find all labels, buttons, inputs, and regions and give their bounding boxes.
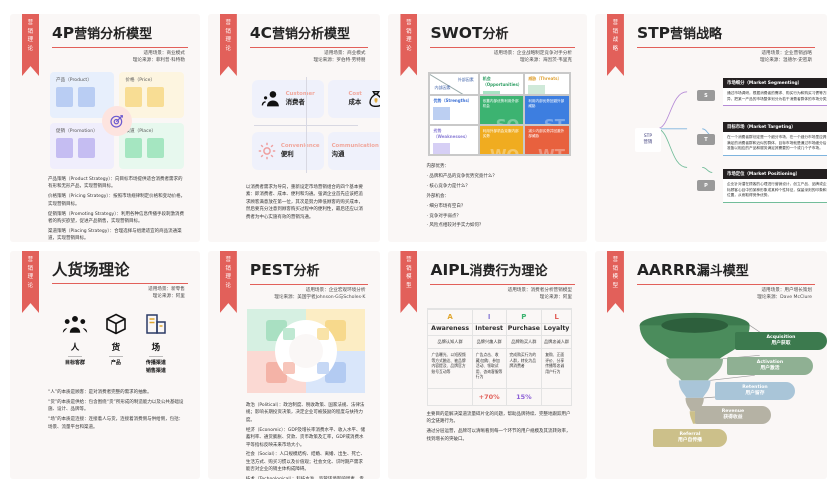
- body-line: 经济（Economic）：GDP及增长率消费水平、收入水平、储蓄利率、通货膨胀、…: [246, 427, 367, 449]
- mindmap-stp: STP 营销 S T P 市场细分（Market Segmenting） 通过市…: [635, 70, 813, 212]
- title-en: STP: [637, 24, 670, 42]
- matrix-cell-wo[interactable]: 利用外部机会克服内部劣势 WO: [479, 125, 525, 155]
- column-detail: 复购、正面评价、分享传播等忠诚用户行为: [542, 349, 572, 389]
- ribbon-char: 销: [28, 266, 34, 273]
- funnel-label-activation[interactable]: Activation 用户激活: [727, 357, 813, 375]
- ribbon-char: 略: [613, 46, 619, 53]
- meta-scene: 适用场景：商业模式: [242, 50, 369, 57]
- stage-cn: 用户激活: [760, 366, 779, 373]
- ribbon-4p: 营 销 理 论: [22, 14, 39, 76]
- cell-text: 利用内部优势回避外部威胁: [528, 99, 564, 108]
- meta-source: 理论来源：菲利普·科特勒: [44, 57, 188, 64]
- page-title: 人货场理论: [52, 261, 188, 280]
- column-name: Purchase: [506, 324, 542, 336]
- title-en: 4C: [250, 24, 272, 42]
- meta-source: 理论来源：阿里: [44, 293, 188, 300]
- column-name: Awareness: [428, 324, 472, 336]
- column-crowd: 品牌认知人群: [428, 336, 472, 349]
- detail-card-positioning[interactable]: 市场定位（Market Positioning） 企业针对潜在顾客的心理进行营销…: [723, 169, 827, 203]
- column-letter: L: [542, 310, 572, 324]
- item-title: 货: [104, 341, 128, 353]
- ribbon-char: 模: [613, 274, 619, 281]
- meta-scene: 适用场景：新零售: [44, 286, 188, 293]
- body-line: “场”的本质是连接：连接着人与货，连接着消费侧与供给侧，包括：场景、流量平台和渠…: [48, 416, 186, 431]
- table-row-detail: 广告曝光、以短视频等方式触达、被品牌内容提及、品牌官方账号互动等 广告点击、收藏…: [428, 349, 571, 389]
- card-4p[interactable]: 营 销 理 论 4P营销分析模型 适用场景：商业模式 理论来源：菲利普·科特勒 …: [10, 14, 200, 242]
- body-line: 内部优势：: [426, 163, 572, 170]
- title-cn: 营销分析模型: [272, 27, 350, 42]
- divider-horizontal: [254, 125, 359, 126]
- ribbon-pest: 营 销 理 论: [220, 251, 237, 313]
- col-header-threats: 威胁（Threats）: [524, 73, 570, 95]
- item-title: 场: [144, 341, 168, 353]
- meta-source: 理论来源：罗伯特·劳特朋: [242, 57, 369, 64]
- bar: [56, 87, 73, 107]
- divider: [149, 356, 163, 357]
- ribbon-renhuochang: 营 销 理 论: [22, 251, 39, 313]
- stage-cn: 用户获取: [771, 341, 790, 348]
- item-sub: 目标客群: [62, 360, 88, 368]
- title-rule: [52, 283, 188, 284]
- card-stp[interactable]: 营 销 战 略 STP营销战略 适用场景：企业营销战略 理论来源：温德尔·史密斯: [595, 14, 827, 242]
- body-text-aipl: 主要目的是解决渠道流量碎片化的问题，帮助品牌持续、完整地跟踪用户的全链路行为。 …: [426, 411, 572, 443]
- title-cn: 漏斗模型: [697, 264, 749, 279]
- ribbon-aarrr: 营 销 模 型: [607, 251, 624, 313]
- quadrant-en: Cost: [348, 91, 361, 98]
- title-rule: [637, 284, 815, 285]
- meta-scene: 适用场景：企业战略制定竞争对手分析: [422, 50, 574, 57]
- title-cn: 营销战略: [670, 27, 722, 42]
- detail-caption: 市场定位（Market Positioning）: [723, 169, 827, 179]
- bar: [147, 87, 164, 107]
- row-label: 劣势（Weaknesses）: [433, 128, 469, 139]
- card-row-1: 营 销 理 论 4P营销分析模型 适用场景：商业模式 理论来源：菲利普·科特勒 …: [10, 14, 827, 242]
- stage-cn: 获得收益: [723, 415, 742, 422]
- corner-outer-label: 外部因素: [458, 77, 474, 83]
- ribbon-char: 销: [613, 29, 619, 36]
- cell-text: 依靠内部优势利用外部机会: [483, 99, 519, 108]
- bar: [147, 138, 164, 158]
- body-line: 渠道策略（Placing Strategy）：合理选择与组建适宜的商品流通渠道，…: [48, 228, 186, 242]
- matrix-swot: 外部因素 内部因素 机会（Opportunities） 威胁（Threats） …: [428, 72, 570, 156]
- stage-cn: 用户自传播: [678, 438, 702, 445]
- body-text-swot: 内部优势： · 品牌和产品的竞争优势究竟什么？ · 核心竞争力是什么？ 外部机会…: [426, 163, 572, 230]
- infographic-board: 营 销 理 论 4P营销分析模型 适用场景：商业模式 理论来源：菲利普·科特勒 …: [0, 0, 837, 500]
- ribbon-char: 营: [613, 257, 619, 264]
- detail-body: 在一个消费者群划定是一个细分市场，在一个细分市场里应具备的是满足的消费者群和近似…: [723, 132, 827, 155]
- body-line: 社会（Social）：人口规模结构、结婚、离婚、出生、死亡、生活方式、购买习惯以…: [246, 451, 367, 473]
- diagram-4c: Customer 消费者 Cost 成本: [250, 73, 363, 177]
- title-rule: [430, 47, 574, 48]
- meta-scene: 适用场景：用户增长策划: [629, 287, 815, 294]
- quadrant-en: Convenience: [281, 143, 320, 150]
- card-renhuochang[interactable]: 营 销 理 论 人货场理论 适用场景：新零售 理论来源：阿里: [10, 251, 200, 479]
- body-line: “货”的本质是供给：包含围绕“货”所形成的制造能力以及公共基础设施、设计、品牌等…: [48, 399, 186, 414]
- body-line: 价格策略（Pricing Strategy）：按照市场规律制定价格和变动价格，实…: [48, 193, 186, 208]
- ribbon-char: 营: [28, 257, 34, 264]
- swatch: [433, 107, 450, 120]
- corner-inner-label: 内部因素: [434, 85, 450, 91]
- funnel-aarrr: Acquisition 用户获取 Activation 用户激活 Retenti…: [633, 307, 813, 457]
- store-icon: [144, 310, 168, 336]
- ribbon-char: 销: [406, 266, 412, 273]
- body-line: · 风险点相较对手实力如何？: [426, 222, 572, 229]
- detail-caption: 目标市场（Market Targeting）: [723, 122, 827, 132]
- card-swot[interactable]: 营 销 理 论 SWOT分析 适用场景：企业战略制定竞争对手分析 理论来源：海因…: [388, 14, 586, 242]
- ribbon-char: 营: [406, 20, 412, 27]
- ribbon-char: 销: [406, 29, 412, 36]
- body-line: “人”的本质是顾客：是对消费者完整的需求的抽象。: [48, 389, 186, 396]
- quadrant-label: 渠道（Place）: [125, 128, 177, 134]
- node-t[interactable]: T: [697, 134, 715, 145]
- row-label: 优势（Strengths）: [433, 98, 471, 103]
- funnel-label-retention[interactable]: Retention 用户留存: [715, 382, 795, 400]
- bar: [78, 138, 95, 158]
- page-title: SWOT分析: [430, 24, 574, 44]
- quadrant-en: Communication: [332, 143, 379, 150]
- ribbon-char: 理: [226, 274, 232, 281]
- divider: [68, 356, 82, 357]
- node-s[interactable]: S: [697, 90, 715, 101]
- divider: [109, 356, 123, 357]
- table-row-letters: A I P L: [428, 310, 571, 324]
- detail-card-targeting[interactable]: 目标市场（Market Targeting） 在一个消费者群划定是一个细分市场，…: [723, 122, 827, 156]
- funnel-label-referral[interactable]: Referral 用户自传播: [653, 429, 727, 447]
- column-crowd: 品牌忠诚人群: [542, 336, 572, 349]
- ribbon-char: 论: [406, 46, 412, 53]
- body-line: 促销策略（Promoting Strategy）：利用各种信息传播手段刺激消费者…: [48, 211, 186, 226]
- item-chang[interactable]: 场 传播渠道 销售渠道: [144, 310, 168, 375]
- ribbon-char: 销: [226, 266, 232, 273]
- quadrant-cn: 沟通: [332, 150, 379, 159]
- diagram-renhuochang: 人 目标客群 货 产品: [54, 310, 176, 375]
- swatch: [433, 143, 450, 155]
- ribbon-char: 理: [28, 274, 34, 281]
- meta-source: 理论来源：阿里: [422, 294, 574, 301]
- body-line: · 品牌和产品的竞争优势究竟什么？: [426, 173, 572, 180]
- table-row-metrics: +70% 15%: [428, 389, 571, 406]
- target-icon: [102, 106, 132, 136]
- detail-body: 通过市场调研，根据消费者的需求、购买行为和购买习惯等方面的差异，把某一产品的市场…: [723, 88, 827, 105]
- meta-scene: 适用场景：商业模式: [44, 50, 188, 57]
- quadrant-label: 促销（Promotion）: [56, 128, 108, 134]
- detail-body: 企业针对潜在顾客的心理进行营销设计，创立产品、品牌或企业在目标顾客心目中的某种形…: [723, 179, 827, 202]
- title-cn: 人货场理论: [52, 261, 130, 279]
- page-title: AARRR漏斗模型: [637, 261, 815, 281]
- ribbon-char: 型: [406, 283, 412, 290]
- quadrant-en: Customer: [286, 91, 315, 98]
- item-sub: 产品: [104, 360, 128, 368]
- title-rule: [52, 47, 188, 48]
- column-crowd: 品牌兴趣人群: [472, 336, 506, 349]
- funnel-label-revenue[interactable]: Revenue 获得收益: [695, 406, 771, 424]
- item-ren[interactable]: 人 目标客群: [62, 310, 88, 375]
- box-icon: [104, 310, 128, 336]
- cell-text: 减少内部劣势并回避外部威胁: [528, 129, 564, 138]
- quadrant-cn: 成本: [348, 98, 361, 107]
- page-title: 4P营销分析模型: [52, 24, 188, 44]
- row-header-strengths: 优势（Strengths）: [429, 95, 478, 125]
- title-cn: 分析: [294, 264, 320, 279]
- ribbon-char: 营: [406, 257, 412, 264]
- body-line: 外部机会：: [426, 193, 572, 200]
- col-label: 威胁（Threats）: [528, 76, 561, 81]
- ribbon-swot: 营 销 理 论: [400, 14, 417, 76]
- ribbon-char: 理: [226, 37, 232, 44]
- ribbon-char: 论: [28, 283, 34, 290]
- body-text-renhuochang: “人”的本质是顾客：是对消费者完整的需求的抽象。 “货”的本质是供给：包含围绕“…: [48, 389, 186, 431]
- row-header-weaknesses: 劣势（Weaknesses）: [429, 125, 478, 155]
- ribbon-char: 营: [226, 257, 232, 264]
- body-line: · 核心竞争力是什么？: [426, 183, 572, 190]
- ribbon-char: 理: [406, 37, 412, 44]
- body-line: 技术（Technological）：科技水准、监管环境影响因素、专利保护、技术转…: [246, 476, 367, 479]
- body-line: 以消费者需求为导向，重新设定市场营销组合的四个基本要素：即消费者、成本、便利和沟…: [246, 184, 367, 221]
- title-cn: 消费行为理论: [469, 264, 547, 279]
- col-header-opportunities: 机会（Opportunities）: [479, 73, 525, 95]
- ribbon-char: 营: [613, 20, 619, 27]
- ribbon-char: 理: [28, 37, 34, 44]
- body-line: 产品策略（Product Strategy）：向目标市场提供适合消费者需求的有形…: [48, 176, 186, 191]
- quadrant-customer[interactable]: Customer 消费者: [250, 73, 326, 125]
- person-icon: [261, 88, 283, 110]
- meta-scene: 适用场景：企业营销战略: [629, 50, 815, 57]
- column-detail: 广告曝光、以短视频等方式触达、被品牌内容提及、品牌官方账号互动等: [428, 349, 472, 389]
- title-en: PEST: [250, 261, 294, 279]
- page-title: AIPL消费行为理论: [430, 261, 574, 281]
- ribbon-char: 论: [28, 46, 34, 53]
- ribbon-char: 论: [226, 46, 232, 53]
- column-letter: I: [472, 310, 506, 324]
- body-line: · 细分市场有空白？: [426, 203, 572, 210]
- detail-caption: 市场细分（Market Segmenting）: [723, 78, 827, 88]
- meta-source: 理论来源：Dave McClure: [629, 294, 815, 301]
- quadrant-cn: 消费者: [286, 98, 315, 107]
- meta-scene: 适用场景：企业宏观环境分析: [242, 287, 369, 294]
- matrix-cell-st[interactable]: 利用内部优势回避外部威胁 ST: [524, 95, 570, 125]
- column-metric: [428, 389, 472, 406]
- body-line: 通过分层运营，品牌可以清晰看到每一个环节的用户规模及其流转效率，找到增长的突破口…: [426, 428, 572, 443]
- column-name: Loyalty: [542, 324, 572, 336]
- column-detail: 广告点击、收藏/加购、参加活动、领取试用、咨询客服等行为: [472, 349, 506, 389]
- matrix-corner: 外部因素 内部因素: [429, 73, 478, 95]
- column-letter: P: [506, 310, 542, 324]
- money-bag-icon: [365, 88, 381, 110]
- card-aipl[interactable]: 营 销 模 型 AIPL消费行为理论 适用场景：消费者分析营销模型 理论来源：阿…: [388, 251, 586, 479]
- ribbon-char: 模: [406, 274, 412, 281]
- meta-source: 理论来源：温德尔·史密斯: [629, 57, 815, 64]
- ribbon-char: 型: [613, 283, 619, 290]
- node-key: P: [704, 183, 708, 189]
- body-line: 主要目的是解决渠道流量碎片化的问题，帮助品牌持续、完整地跟踪用户的全链路行为。: [426, 411, 572, 426]
- table-row-crowd: 品牌认知人群 品牌兴趣人群 品牌购买人群 品牌忠诚人群: [428, 336, 571, 349]
- column-detail: 完成购买行为的人群，转化为品牌消费者: [506, 349, 542, 389]
- cell-code: WO: [490, 153, 519, 155]
- diagram-4p: 产品（Product） 价格（Price） 促销（Promotion） 渠道（P…: [50, 72, 184, 169]
- column-metric: +70%: [472, 389, 506, 406]
- item-title: 人: [62, 341, 88, 353]
- quadrant-communication[interactable]: Communication 沟通: [326, 125, 381, 177]
- quadrant-cost[interactable]: Cost 成本: [326, 73, 381, 125]
- column-metric: [542, 389, 572, 406]
- matrix-cell-so[interactable]: 依靠内部优势利用外部机会 SO: [479, 95, 525, 125]
- quadrant-convenience[interactable]: Convenience 便利: [250, 125, 326, 177]
- card-pest[interactable]: 营 销 理 论 PEST分析 适用场景：企业宏观环境分析 理论来源：美国学者Jo…: [208, 251, 381, 479]
- page-title: PEST分析: [250, 261, 369, 281]
- ribbon-4c: 营 销 理 论: [220, 14, 237, 76]
- ribbon-char: 营: [28, 20, 34, 27]
- node-key: T: [704, 137, 707, 143]
- bar: [78, 87, 95, 107]
- column-metric: 15%: [506, 389, 542, 406]
- funnel-label-acquisition[interactable]: Acquisition 用户获取: [735, 332, 827, 350]
- table-row-names: Awareness Interest Purchase Loyalty: [428, 324, 571, 336]
- ribbon-char: 战: [613, 37, 619, 44]
- root-line2: 营销: [644, 140, 653, 146]
- meta-source: 理论来源：美国学者Johnson·G与Scholes·K: [242, 294, 369, 301]
- body-line: 政治（Political）：政治制度、税收政策、国家法规、法律法规；影响长期投资…: [246, 402, 367, 424]
- ribbon-aipl: 营 销 模 型: [400, 251, 417, 313]
- quadrant-place[interactable]: 渠道（Place）: [119, 123, 183, 169]
- matrix-cell-wt[interactable]: 减少内部劣势并回避外部威胁 WT: [524, 125, 570, 155]
- quadrant-label: 价格（Price）: [125, 77, 177, 83]
- body-text-4c: 以消费者需求为导向，重新设定市场营销组合的四个基本要素：即消费者、成本、便利和沟…: [246, 184, 367, 221]
- title-rule: [250, 284, 369, 285]
- bar: [56, 138, 73, 158]
- page-title: STP营销战略: [637, 24, 815, 44]
- body-line: · 竞争对手弱点？: [426, 213, 572, 220]
- column-name: Interest: [472, 324, 506, 336]
- ribbon-char: 销: [28, 29, 34, 36]
- card-aarrr[interactable]: 营 销 模 型 AARRR漏斗模型 适用场景：用户增长策划 理论来源：Dave …: [595, 251, 827, 479]
- mindmap-root: STP 营销: [635, 128, 661, 152]
- pest-center-ring: [278, 323, 334, 379]
- quadrant-cn: 便利: [281, 150, 320, 159]
- column-crowd: 品牌购买人群: [506, 336, 542, 349]
- title-en: AARRR: [637, 261, 697, 279]
- node-key: S: [704, 93, 708, 99]
- bar: [125, 87, 142, 107]
- title-rule: [637, 47, 815, 48]
- page-title: 4C营销分析模型: [250, 24, 369, 44]
- ribbon-char: 销: [226, 29, 232, 36]
- meta-scene: 适用场景：消费者分析营销模型: [422, 287, 574, 294]
- quadrant-label: 产品（Product）: [56, 77, 108, 83]
- title-en: AIPL: [430, 261, 469, 279]
- cell-code: WT: [538, 153, 565, 155]
- bar: [125, 138, 142, 158]
- ribbon-stp: 营 销 战 略: [607, 14, 624, 76]
- diagram-pest: [247, 309, 366, 393]
- stage-cn: 用户留存: [745, 391, 764, 398]
- swatch: [528, 85, 545, 95]
- body-text-pest: 政治（Political）：政治制度、税收政策、国家法规、法律法规；影响长期投资…: [246, 402, 367, 479]
- cell-text: 利用外部机会克服内部劣势: [483, 129, 519, 138]
- title-en: SWOT: [430, 24, 482, 42]
- table-aipl: A I P L Awareness Interest Purchase Loya…: [427, 308, 571, 406]
- gear-icon: [256, 140, 278, 162]
- item-sub: 销售渠道: [144, 368, 168, 376]
- body-text-4p: 产品策略（Product Strategy）：向目标市场提供适合消费者需求的有形…: [48, 176, 186, 242]
- ribbon-char: 营: [226, 20, 232, 27]
- card-row-2: 营 销 理 论 人货场理论 适用场景：新零售 理论来源：阿里: [10, 251, 827, 479]
- item-huo[interactable]: 货 产品: [104, 310, 128, 375]
- title-rule: [250, 47, 369, 48]
- people-icon: [62, 310, 88, 336]
- meta-source: 理论来源：海因茨·韦里克: [422, 57, 574, 64]
- title-cn: 分析: [482, 27, 508, 42]
- title-rule: [430, 284, 574, 285]
- detail-card-segmenting[interactable]: 市场细分（Market Segmenting） 通过市场调研，根据消费者的需求、…: [723, 78, 827, 106]
- ribbon-char: 论: [226, 283, 232, 290]
- ribbon-char: 销: [613, 266, 619, 273]
- card-4c[interactable]: 营 销 理 论 4C营销分析模型 适用场景：商业模式 理论来源：罗伯特·劳特朋: [208, 14, 381, 242]
- column-letter: A: [428, 310, 472, 324]
- col-label: 机会（Opportunities）: [483, 76, 522, 87]
- title-en: 4P: [52, 24, 74, 42]
- item-sub: 传播渠道: [144, 360, 168, 368]
- title-cn: 营销分析模型: [74, 27, 152, 42]
- node-p[interactable]: P: [697, 180, 715, 191]
